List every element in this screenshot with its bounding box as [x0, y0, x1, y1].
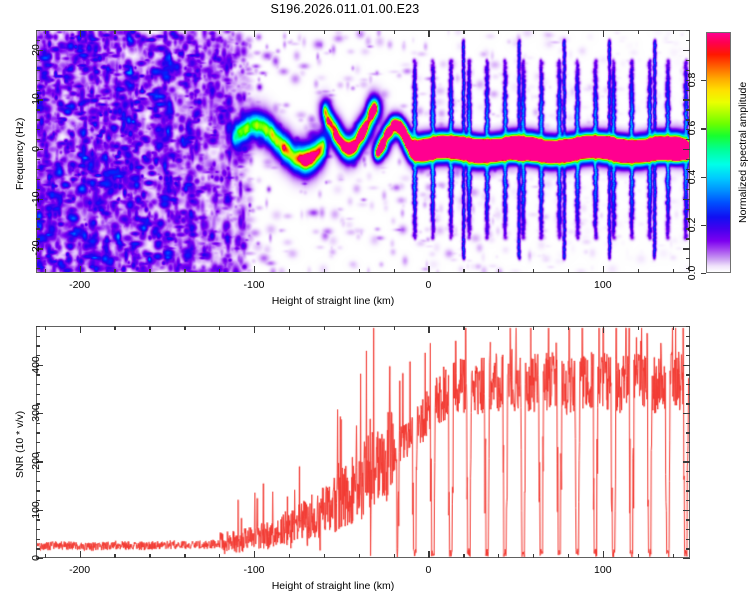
axis-tick-label: -10 [30, 191, 42, 206]
axis-tick [686, 394, 690, 395]
axis-tick-label: 100 [594, 279, 612, 291]
axis-tick [36, 268, 40, 269]
axis-tick-label: -100 [243, 564, 264, 576]
axis-tick [359, 326, 360, 330]
axis-tick [638, 269, 639, 273]
snr-x-axis-label: Height of straight line (km) [272, 580, 395, 592]
axis-tick [533, 269, 534, 273]
axis-tick-label: -20 [30, 241, 42, 256]
axis-tick [36, 209, 40, 210]
axis-tick [686, 189, 690, 190]
axis-tick [463, 554, 464, 558]
axis-tick [219, 326, 220, 330]
axis-tick [701, 225, 706, 226]
axis-tick-label: 0 [425, 279, 431, 291]
axis-tick [149, 30, 150, 34]
axis-tick [673, 326, 674, 330]
axis-tick [254, 551, 255, 558]
colorbar-tick-label: 0.4 [686, 169, 698, 184]
axis-tick [686, 258, 690, 259]
axis-tick [686, 355, 690, 356]
axis-tick [324, 30, 325, 34]
axis-tick [686, 159, 690, 160]
axis-tick [463, 269, 464, 273]
axis-tick [324, 326, 325, 330]
axis-tick [36, 30, 40, 31]
axis-tick [498, 30, 499, 34]
axis-tick [686, 471, 690, 472]
axis-tick [463, 30, 464, 34]
axis-tick [184, 554, 185, 558]
axis-tick [686, 60, 690, 61]
axis-tick [686, 209, 690, 210]
axis-tick [36, 218, 40, 219]
axis-tick [114, 326, 115, 330]
colorbar-label: Normalized spectral amplitude [737, 81, 749, 222]
axis-tick [568, 30, 569, 34]
colorbar-tick-label: 0.6 [686, 121, 698, 136]
spectrogram-x-axis-label: Height of straight line (km) [272, 295, 395, 307]
axis-tick [686, 490, 690, 491]
axis-tick [394, 30, 395, 34]
axis-tick [36, 345, 40, 346]
axis-tick [149, 326, 150, 330]
axis-tick [114, 554, 115, 558]
axis-tick [394, 326, 395, 330]
axis-tick [533, 326, 534, 330]
axis-tick [219, 30, 220, 34]
axis-tick [701, 80, 706, 81]
axis-tick [394, 269, 395, 273]
colorbar [706, 32, 731, 273]
axis-tick [359, 554, 360, 558]
axis-tick [686, 336, 690, 337]
axis-tick [36, 179, 40, 180]
axis-tick [686, 432, 690, 433]
axis-tick [686, 40, 690, 41]
axis-tick [36, 258, 40, 259]
axis-tick [498, 269, 499, 273]
axis-tick [686, 139, 690, 140]
axis-tick-label: 10 [30, 94, 42, 106]
axis-tick [289, 30, 290, 34]
axis-tick [686, 423, 690, 424]
axis-tick [36, 394, 40, 395]
axis-tick [683, 510, 690, 511]
axis-tick [686, 481, 690, 482]
axis-tick [498, 326, 499, 330]
snr-trace-plot [37, 327, 689, 557]
axis-tick [428, 266, 429, 273]
axis-tick [254, 30, 255, 37]
axis-tick [184, 269, 185, 273]
axis-tick [683, 99, 690, 100]
snr-panel [36, 326, 690, 558]
axis-tick-label: 20 [30, 44, 42, 56]
axis-tick-label: 200 [30, 453, 42, 471]
axis-tick [36, 490, 40, 491]
axis-tick [36, 228, 40, 229]
axis-tick [36, 109, 40, 110]
axis-tick-label: 0 [425, 564, 431, 576]
axis-tick [686, 70, 690, 71]
axis-tick [701, 128, 706, 129]
axis-tick [36, 529, 40, 530]
spectrogram-panel [36, 30, 690, 273]
axis-tick [673, 30, 674, 34]
axis-tick [683, 413, 690, 414]
axis-tick [36, 119, 40, 120]
axis-tick [36, 70, 40, 71]
axis-tick [683, 558, 690, 559]
axis-tick [686, 500, 690, 501]
axis-tick [673, 269, 674, 273]
axis-tick [603, 551, 604, 558]
axis-tick [686, 90, 690, 91]
axis-tick [36, 539, 40, 540]
axis-tick [36, 374, 40, 375]
axis-tick [36, 432, 40, 433]
axis-tick [686, 529, 690, 530]
axis-tick [533, 30, 534, 34]
axis-tick-label: 100 [594, 564, 612, 576]
axis-tick [498, 554, 499, 558]
axis-tick [568, 554, 569, 558]
colorbar-tick-label: 0.2 [686, 217, 698, 232]
axis-tick-label: -200 [69, 279, 90, 291]
axis-tick [686, 109, 690, 110]
axis-tick [80, 266, 81, 273]
axis-tick [683, 365, 690, 366]
axis-tick [686, 384, 690, 385]
axis-tick-label: -200 [69, 564, 90, 576]
axis-tick [36, 159, 40, 160]
axis-tick [184, 326, 185, 330]
axis-tick [36, 129, 40, 130]
axis-tick [686, 442, 690, 443]
axis-tick [683, 149, 690, 150]
axis-tick-label: 100 [30, 501, 42, 519]
axis-tick [686, 238, 690, 239]
axis-tick [219, 269, 220, 273]
axis-tick [36, 238, 40, 239]
axis-tick [219, 554, 220, 558]
axis-tick [254, 266, 255, 273]
axis-tick [686, 374, 690, 375]
axis-tick [359, 269, 360, 273]
axis-tick [686, 326, 690, 327]
axis-tick [36, 80, 40, 81]
axis-tick [568, 326, 569, 330]
axis-tick [701, 273, 706, 274]
axis-tick [603, 326, 604, 333]
axis-tick [45, 30, 46, 34]
axis-tick [36, 442, 40, 443]
axis-tick [568, 269, 569, 273]
axis-tick [533, 554, 534, 558]
snr-y-axis-label: SNR (10 * v/v) [14, 411, 26, 478]
axis-tick [45, 269, 46, 273]
axis-tick [80, 326, 81, 333]
axis-tick [686, 452, 690, 453]
axis-tick [80, 551, 81, 558]
axis-tick [428, 30, 429, 37]
axis-tick [394, 554, 395, 558]
axis-tick [36, 471, 40, 472]
figure-root: S196.2026.011.01.00.E23 -200-1000100 -20… [0, 0, 750, 600]
axis-tick [686, 519, 690, 520]
axis-tick [673, 554, 674, 558]
axis-tick [80, 30, 81, 37]
axis-tick [638, 554, 639, 558]
axis-tick [149, 554, 150, 558]
axis-tick [36, 326, 40, 327]
axis-tick [686, 539, 690, 540]
axis-tick [36, 189, 40, 190]
axis-tick [683, 248, 690, 249]
axis-tick [686, 345, 690, 346]
axis-tick-label: -100 [243, 279, 264, 291]
axis-tick [114, 30, 115, 34]
spectrogram-image [37, 31, 689, 272]
axis-tick [36, 384, 40, 385]
axis-tick [324, 554, 325, 558]
axis-tick [686, 403, 690, 404]
axis-tick [184, 30, 185, 34]
axis-tick-label: 300 [30, 404, 42, 422]
axis-tick [683, 461, 690, 462]
axis-tick [289, 269, 290, 273]
axis-tick [683, 199, 690, 200]
axis-tick [359, 30, 360, 34]
axis-tick [428, 326, 429, 333]
axis-tick [254, 326, 255, 333]
axis-tick [686, 30, 690, 31]
axis-tick-label: 400 [30, 356, 42, 374]
axis-tick [36, 481, 40, 482]
axis-tick [149, 269, 150, 273]
axis-tick [114, 269, 115, 273]
axis-tick [36, 40, 40, 41]
axis-tick [686, 548, 690, 549]
axis-tick [36, 423, 40, 424]
axis-tick-label: 0 [30, 146, 42, 152]
axis-tick [683, 50, 690, 51]
colorbar-tick-label: 0.0 [686, 266, 698, 281]
axis-tick-label: 0 [30, 555, 42, 561]
axis-tick [603, 266, 604, 273]
axis-tick [36, 548, 40, 549]
axis-tick [701, 177, 706, 178]
axis-tick [638, 326, 639, 330]
figure-title: S196.2026.011.01.00.E23 [0, 2, 690, 16]
axis-tick [428, 551, 429, 558]
axis-tick [36, 60, 40, 61]
axis-tick [638, 30, 639, 34]
axis-tick [36, 336, 40, 337]
axis-tick [463, 326, 464, 330]
axis-tick [36, 519, 40, 520]
spectrogram-y-axis-label: Frequency (Hz) [14, 117, 26, 189]
axis-tick [45, 326, 46, 330]
axis-tick [289, 326, 290, 330]
colorbar-tick-label: 0.8 [686, 73, 698, 88]
axis-tick [603, 30, 604, 37]
axis-tick [45, 554, 46, 558]
axis-tick [36, 169, 40, 170]
axis-tick [36, 90, 40, 91]
axis-tick [324, 269, 325, 273]
axis-tick [36, 139, 40, 140]
axis-tick [289, 554, 290, 558]
